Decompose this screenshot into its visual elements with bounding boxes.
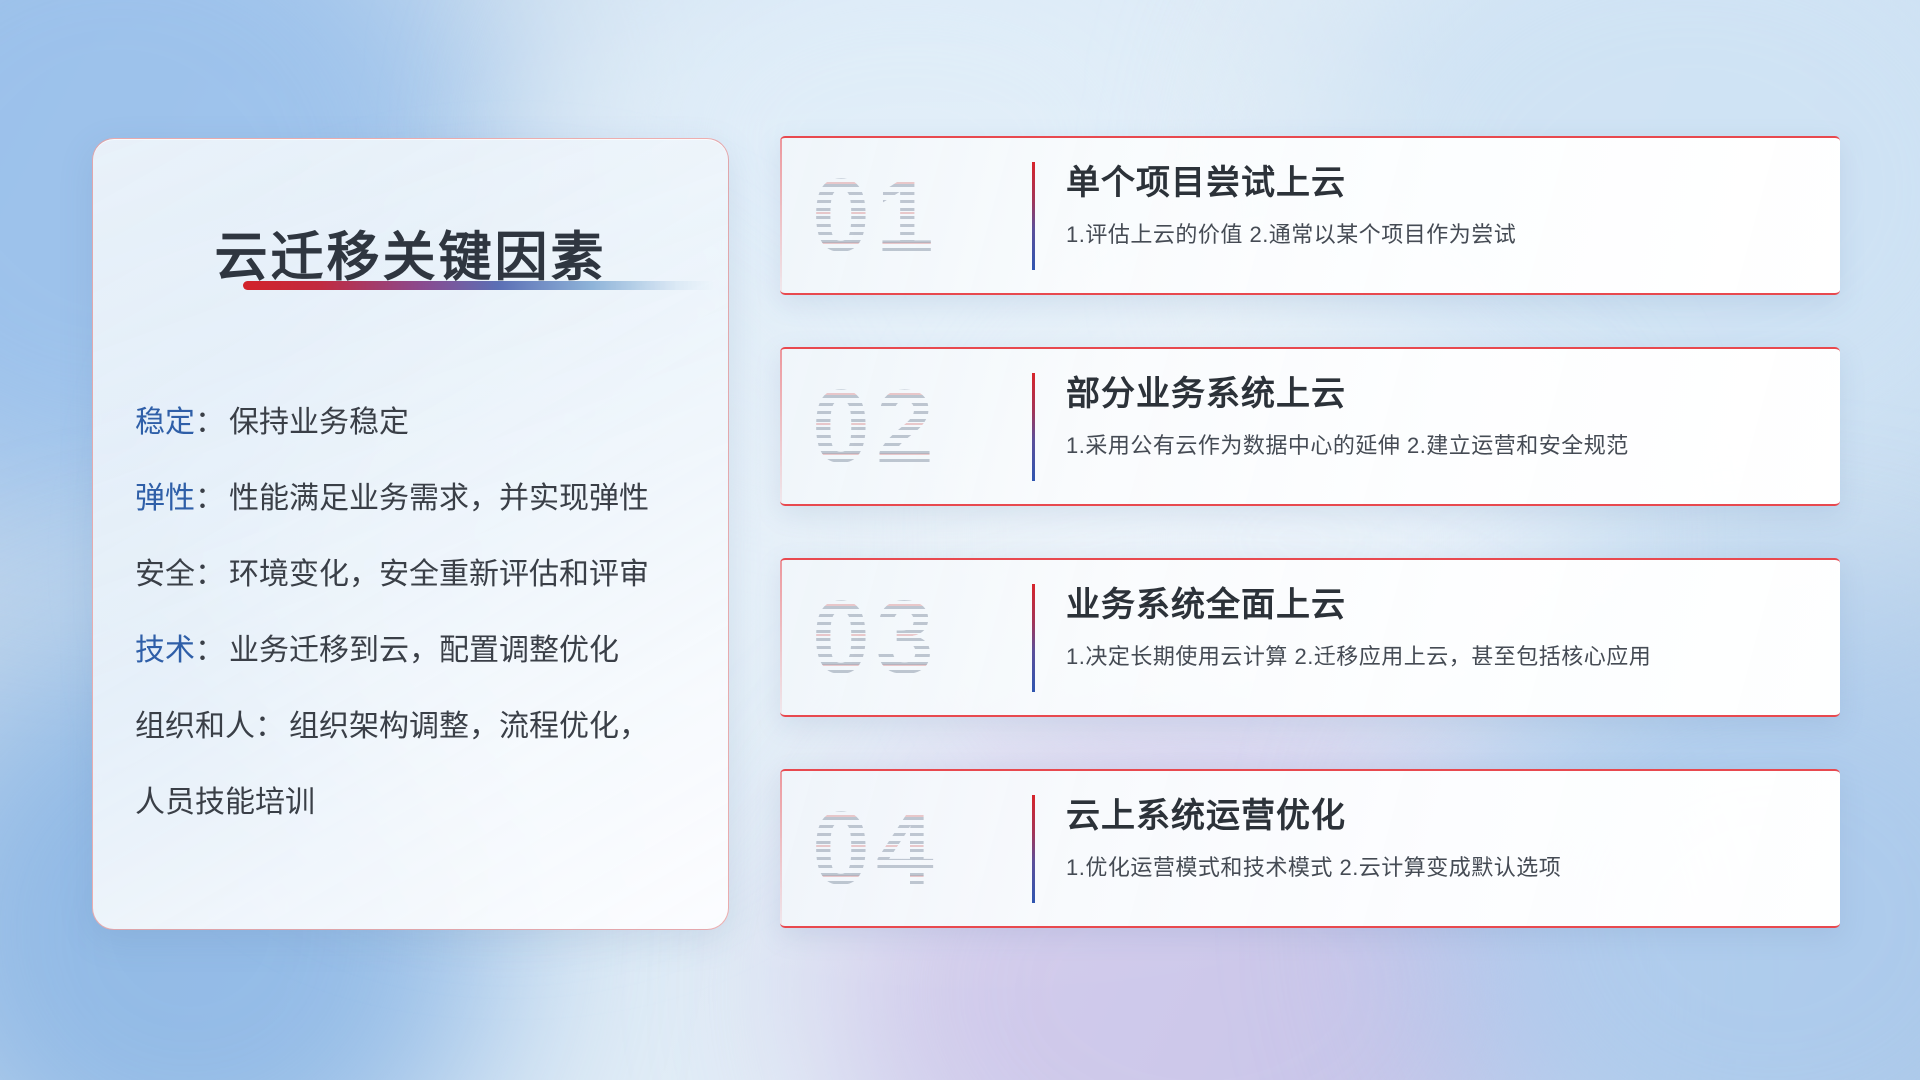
factor-description: 性能满足业务需求，并实现弹性 [229,461,649,537]
stage-points: 1.评估上云的价值 2.通常以某个项目作为尝试 [1066,220,1814,250]
stage-number: 01 [812,152,1012,280]
stage-card[interactable]: 03业务系统全面上云1.决定长期使用云计算 2.迁移应用上云，甚至包括核心应用 [780,558,1840,717]
stage-title: 业务系统全面上云 [1066,580,1814,630]
slide-stage: 云迁移关键因素 稳定：保持业务稳定弹性：性能满足业务需求，并实现弹性安全：环境变… [0,0,1920,1080]
stage-points: 1.决定长期使用云计算 2.迁移应用上云，甚至包括核心应用 [1066,642,1814,672]
stage-title: 云上系统运营优化 [1066,791,1814,841]
title-underline-accent [243,281,715,290]
factor-label: 技术 [135,613,195,689]
stage-divider-accent [1032,584,1035,692]
factor-row: 技术：业务迁移到云，配置调整优化 [135,613,698,689]
stage-body: 业务系统全面上云1.决定长期使用云计算 2.迁移应用上云，甚至包括核心应用 [1066,580,1814,672]
factor-row: 弹性：性能满足业务需求，并实现弹性 [135,461,698,537]
factor-label: 组织和人 [135,689,255,765]
factor-separator: ： [195,385,225,461]
factor-list: 稳定：保持业务稳定弹性：性能满足业务需求，并实现弹性安全：环境变化，安全重新评估… [135,385,698,841]
stage-points: 1.采用公有云作为数据中心的延伸 2.建立运营和安全规范 [1066,431,1814,461]
factor-separator: ： [195,537,225,613]
stage-number: 03 [812,574,1012,702]
stage-title: 单个项目尝试上云 [1066,158,1814,208]
stage-number: 02 [812,363,1012,491]
factor-label: 稳定 [135,385,195,461]
stage-body: 部分业务系统上云1.采用公有云作为数据中心的延伸 2.建立运营和安全规范 [1066,369,1814,461]
stage-divider-accent [1032,162,1035,270]
factor-description: 业务迁移到云，配置调整优化 [229,613,619,689]
factor-row: 安全：环境变化，安全重新评估和评审 [135,537,698,613]
page-title: 云迁移关键因素 [93,215,728,291]
stage-divider-accent [1032,373,1035,481]
factor-description: 保持业务稳定 [229,385,409,461]
stage-body: 单个项目尝试上云1.评估上云的价值 2.通常以某个项目作为尝试 [1066,158,1814,250]
stage-points: 1.优化运营模式和技术模式 2.云计算变成默认选项 [1066,853,1814,883]
stage-card[interactable]: 04云上系统运营优化1.优化运营模式和技术模式 2.云计算变成默认选项 [780,769,1840,928]
factor-separator: ： [195,461,225,537]
stage-card-list: 01单个项目尝试上云1.评估上云的价值 2.通常以某个项目作为尝试02部分业务系… [780,136,1840,928]
stage-card[interactable]: 02部分业务系统上云1.采用公有云作为数据中心的延伸 2.建立运营和安全规范 [780,347,1840,506]
stage-title: 部分业务系统上云 [1066,369,1814,419]
stage-divider-accent [1032,795,1035,903]
factor-row: 稳定：保持业务稳定 [135,385,698,461]
factor-separator: ： [255,689,285,765]
stage-card[interactable]: 01单个项目尝试上云1.评估上云的价值 2.通常以某个项目作为尝试 [780,136,1840,295]
stage-number: 04 [812,785,1012,913]
factor-label: 安全 [135,537,195,613]
factor-row: 组织和人：组织架构调整，流程优化， [135,689,698,765]
stage-body: 云上系统运营优化1.优化运营模式和技术模式 2.云计算变成默认选项 [1066,791,1814,883]
key-factors-panel: 云迁移关键因素 稳定：保持业务稳定弹性：性能满足业务需求，并实现弹性安全：环境变… [92,138,729,930]
factor-separator: ： [195,613,225,689]
factor-label: 弹性 [135,461,195,537]
factor-description: 环境变化，安全重新评估和评审 [229,537,649,613]
factor-description: 组织架构调整，流程优化， [289,689,649,765]
factor-row: 人员技能培训 [135,765,698,841]
factor-description: 人员技能培训 [135,765,315,841]
